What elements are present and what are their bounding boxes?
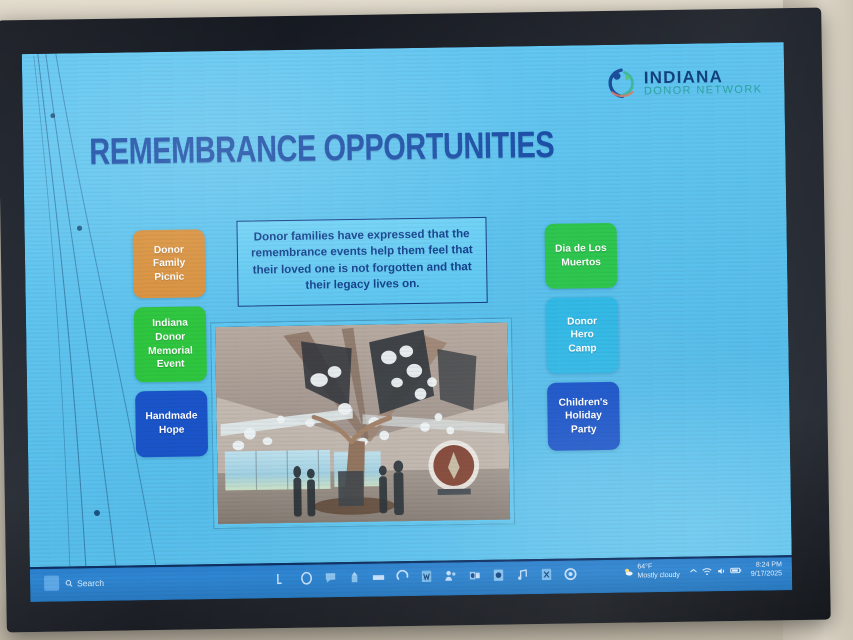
chat-icon[interactable] — [323, 570, 338, 585]
wifi-icon[interactable] — [702, 566, 712, 576]
chrome-icon[interactable] — [563, 566, 578, 581]
taskbar-app-icons — [275, 566, 578, 586]
task-view-icon[interactable] — [275, 571, 290, 586]
room-photo-scene: INDIANA DONOR NETWORK REMEMBRANCE OPPORT… — [0, 0, 853, 640]
search-input[interactable]: Search — [65, 577, 104, 588]
event-photo-image — [215, 323, 510, 527]
event-photo — [211, 318, 514, 528]
pill-label: Dia de LosMuertos — [555, 242, 607, 270]
quote-line-4: their legacy lives on. — [248, 275, 476, 295]
quote-emphasis: not forgotten — [351, 261, 423, 275]
quote-line-3c: and that — [423, 260, 472, 274]
search-icon — [65, 579, 73, 587]
pill-label: HandmadeHope — [145, 410, 198, 438]
teams-icon[interactable] — [443, 568, 458, 583]
word-icon[interactable] — [419, 569, 434, 584]
indiana-donor-network-logo: INDIANA DONOR NETWORK — [604, 65, 763, 101]
clock-time: 8:24 PM — [751, 561, 782, 570]
clock-date: 9/17/2025 — [751, 570, 782, 579]
excel-icon[interactable] — [539, 567, 554, 582]
weather-condition: Mostly cloudy — [637, 572, 680, 581]
system-tray — [689, 566, 742, 577]
pill-donor-family-picnic[interactable]: DonorFamilyPicnic — [133, 229, 206, 298]
music-icon[interactable] — [515, 567, 530, 582]
pill-label: DonorFamilyPicnic — [153, 243, 186, 284]
pill-handmade-hope[interactable]: HandmadeHope — [135, 390, 208, 457]
monitor-screen: INDIANA DONOR NETWORK REMEMBRANCE OPPORT… — [22, 42, 793, 602]
page-title: REMEMBRANCE OPPORTUNITIES — [89, 124, 554, 173]
quote-line-3a: their loved one is — [253, 262, 352, 277]
monitor-bezel: INDIANA DONOR NETWORK REMEMBRANCE OPPORT… — [0, 8, 831, 633]
pill-childrens-holiday-party[interactable]: Children'sHolidayParty — [547, 382, 620, 451]
edge-icon[interactable] — [395, 569, 410, 584]
quote-textbox: Donor families have expressed that the r… — [236, 217, 487, 307]
mail-icon[interactable] — [371, 569, 386, 584]
powerpoint-icon[interactable] — [491, 568, 506, 583]
outlook-icon[interactable] — [467, 568, 482, 583]
taskbar-right-group: 64°F Mostly cloudy 8:24 PM 9/17/2025 — [623, 561, 782, 581]
search-placeholder: Search — [77, 577, 104, 587]
pill-label: DonorHeroCamp — [567, 315, 598, 356]
logo-secondary-text: DONOR NETWORK — [644, 84, 763, 97]
show-hidden-icons[interactable] — [689, 567, 698, 576]
taskbar-left-group: Search — [44, 575, 104, 591]
presentation-slide: INDIANA DONOR NETWORK REMEMBRANCE OPPORT… — [22, 42, 792, 567]
weather-widget[interactable]: 64°F Mostly cloudy — [623, 563, 680, 581]
pill-donor-hero-camp[interactable]: DonorHeroCamp — [546, 297, 619, 374]
weather-icon — [623, 567, 634, 578]
pill-indiana-donor-memorial-event[interactable]: IndianaDonorMemorialEvent — [134, 306, 207, 382]
widgets-icon[interactable] — [299, 571, 314, 586]
start-button[interactable] — [44, 576, 59, 591]
pill-label: IndianaDonorMemorialEvent — [148, 317, 194, 372]
volume-icon[interactable] — [716, 566, 726, 576]
pill-dia-de-los-muertos[interactable]: Dia de LosMuertos — [545, 223, 618, 289]
taskbar-clock[interactable]: 8:24 PM 9/17/2025 — [751, 561, 782, 579]
file-explorer-icon[interactable] — [347, 570, 362, 585]
pill-label: Children'sHolidayParty — [559, 396, 609, 437]
logo-mark-icon — [604, 66, 639, 101]
battery-icon[interactable] — [730, 566, 742, 575]
